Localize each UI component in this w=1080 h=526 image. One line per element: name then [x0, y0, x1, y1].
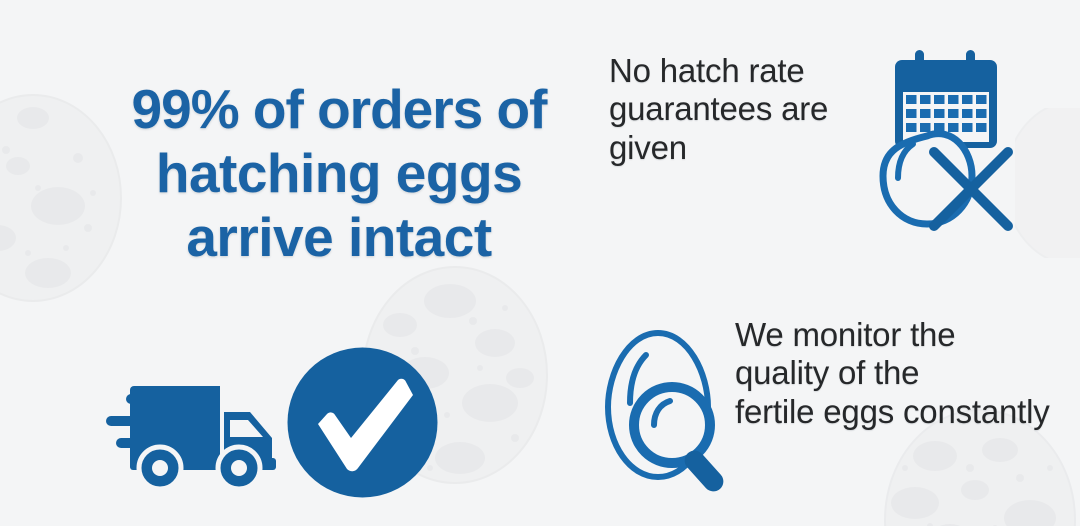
- egg-magnifier-icon: [596, 325, 744, 497]
- check-circle-icon: [285, 345, 440, 500]
- headline-line-2: hatching eggs: [104, 142, 574, 206]
- page-title: 99% of orders of hatching eggs arrive in…: [104, 78, 574, 269]
- headline-line-3: arrive intact: [104, 206, 574, 270]
- monitor-line-3: fertile eggs constantly: [735, 393, 1080, 431]
- quality-monitoring-text: We monitor the quality of the fertile eg…: [735, 316, 1080, 431]
- calendar-egg-cross-icon: [872, 48, 1022, 238]
- no-hatch-line-2: guarantees are: [609, 90, 909, 128]
- infographic-slide: 99% of orders of hatching eggs arrive in…: [0, 0, 1080, 526]
- headline-line-1: 99% of orders of: [104, 78, 574, 142]
- monitor-line-1: We monitor the: [735, 316, 1080, 354]
- delivery-truck-icon: [98, 378, 280, 490]
- no-hatch-line-1: No hatch rate: [609, 52, 909, 90]
- egg-watermark-right-mid: [1015, 108, 1080, 258]
- no-hatch-line-3: given: [609, 129, 909, 167]
- no-hatch-guarantee-text: No hatch rate guarantees are given: [609, 52, 909, 167]
- monitor-line-2: quality of the: [735, 354, 1080, 392]
